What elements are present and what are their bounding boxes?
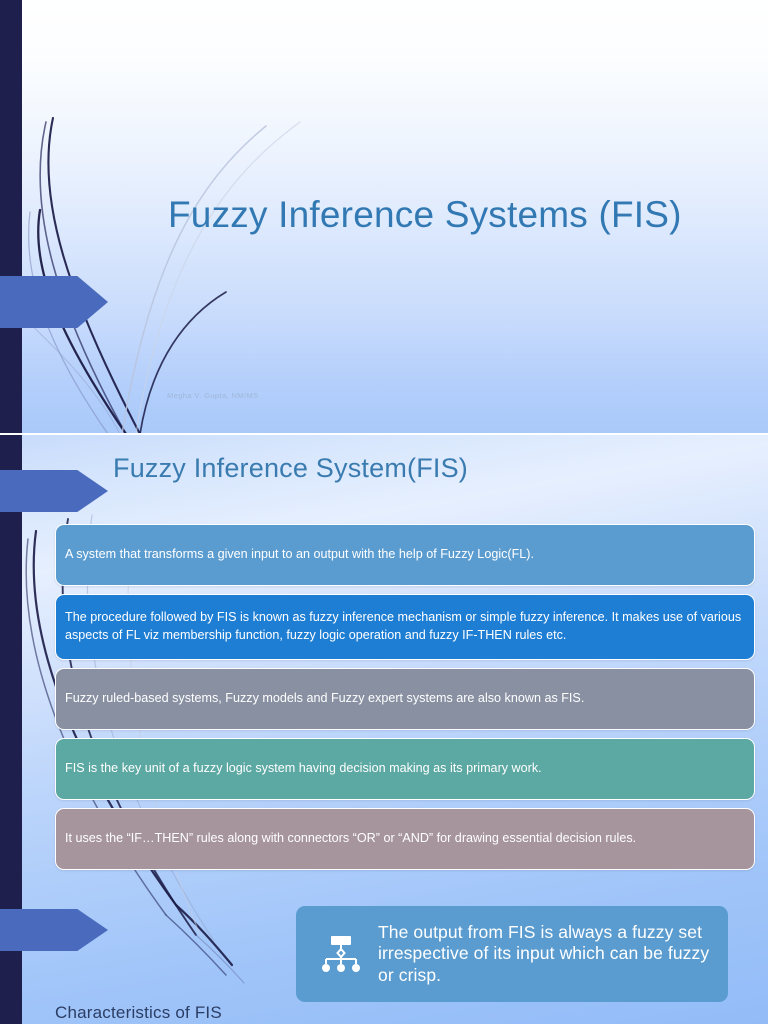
page-title: Fuzzy Inference Systems (FIS)	[168, 194, 708, 237]
section-heading: Fuzzy Inference System(FIS)	[113, 453, 468, 484]
presentation-deck: Fuzzy Inference Systems (FIS) Megha V. G…	[0, 0, 768, 1024]
slide-title: Fuzzy Inference Systems (FIS) Megha V. G…	[0, 0, 768, 434]
callout-box: The output from FIS is always a fuzzy se…	[296, 906, 728, 1002]
slide-content: Fuzzy Inference System(FIS) A system tha…	[0, 435, 768, 1024]
slide-divider	[0, 433, 768, 435]
fact-box: It uses the “IF…THEN” rules along with c…	[55, 808, 755, 870]
left-accent-bar-slide1	[0, 0, 22, 434]
callout-text: The output from FIS is always a fuzzy se…	[372, 922, 720, 986]
fact-box: A system that transforms a given input t…	[55, 524, 755, 586]
footer-heading: Characteristics of FIS	[55, 1003, 222, 1023]
author-byline: Megha V. Gupta, NMIMS	[167, 391, 259, 400]
fact-box-list: A system that transforms a given input t…	[55, 524, 755, 878]
fact-box: The procedure followed by FIS is known a…	[55, 594, 755, 660]
fact-box: FIS is the key unit of a fuzzy logic sys…	[55, 738, 755, 800]
hierarchy-icon	[310, 934, 372, 974]
fact-box: Fuzzy ruled-based systems, Fuzzy models …	[55, 668, 755, 730]
